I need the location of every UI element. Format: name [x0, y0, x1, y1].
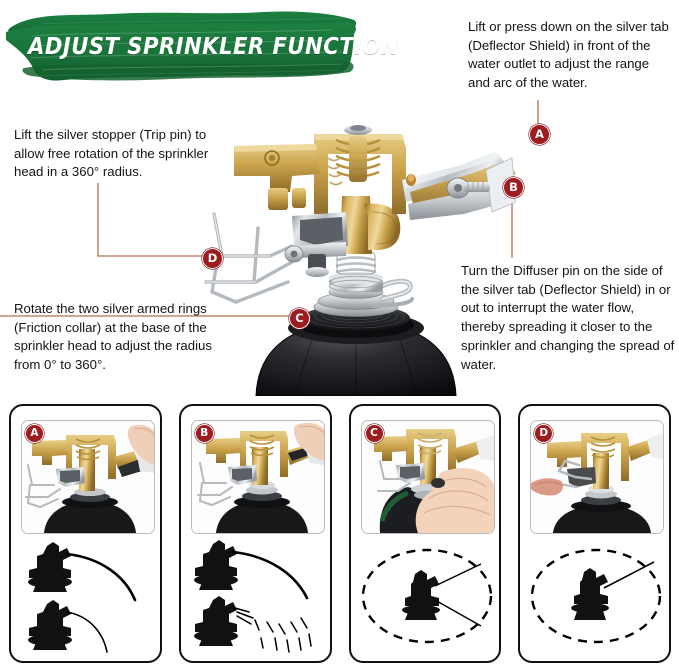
card-friction-collar[interactable]: C [349, 404, 502, 663]
marker-badge-a[interactable]: A [529, 124, 550, 145]
callout-text-b: Turn the Diffuser pin on the side of the… [461, 262, 675, 374]
card-diagram-d [526, 538, 666, 656]
card-diffuser-pin[interactable]: B [179, 404, 332, 663]
card-diagram-a [17, 538, 157, 656]
card-deflector-shield[interactable]: A [9, 404, 162, 663]
card-diagram-c [357, 538, 497, 656]
card-badge-c: C [365, 424, 384, 443]
card-badge-b: B [195, 424, 214, 443]
card-trip-pin[interactable]: D [518, 404, 671, 663]
infographic-root: ADJUST SPRINKLER FUNCTION [0, 0, 679, 666]
callout-text-a: Lift or press down on the silver tab (De… [468, 18, 674, 93]
card-diagram-b [187, 538, 327, 656]
step-cards-row: A [0, 398, 679, 666]
callout-text-c: Rotate the two silver armed rings (Frict… [14, 300, 230, 375]
marker-badge-c[interactable]: C [289, 308, 310, 329]
marker-badge-d[interactable]: D [202, 248, 223, 269]
leader-d [98, 183, 202, 256]
marker-badge-b[interactable]: B [503, 177, 524, 198]
callout-text-d: Lift the silver stopper (Trip pin) to al… [14, 126, 228, 182]
card-badge-a: A [25, 424, 44, 443]
